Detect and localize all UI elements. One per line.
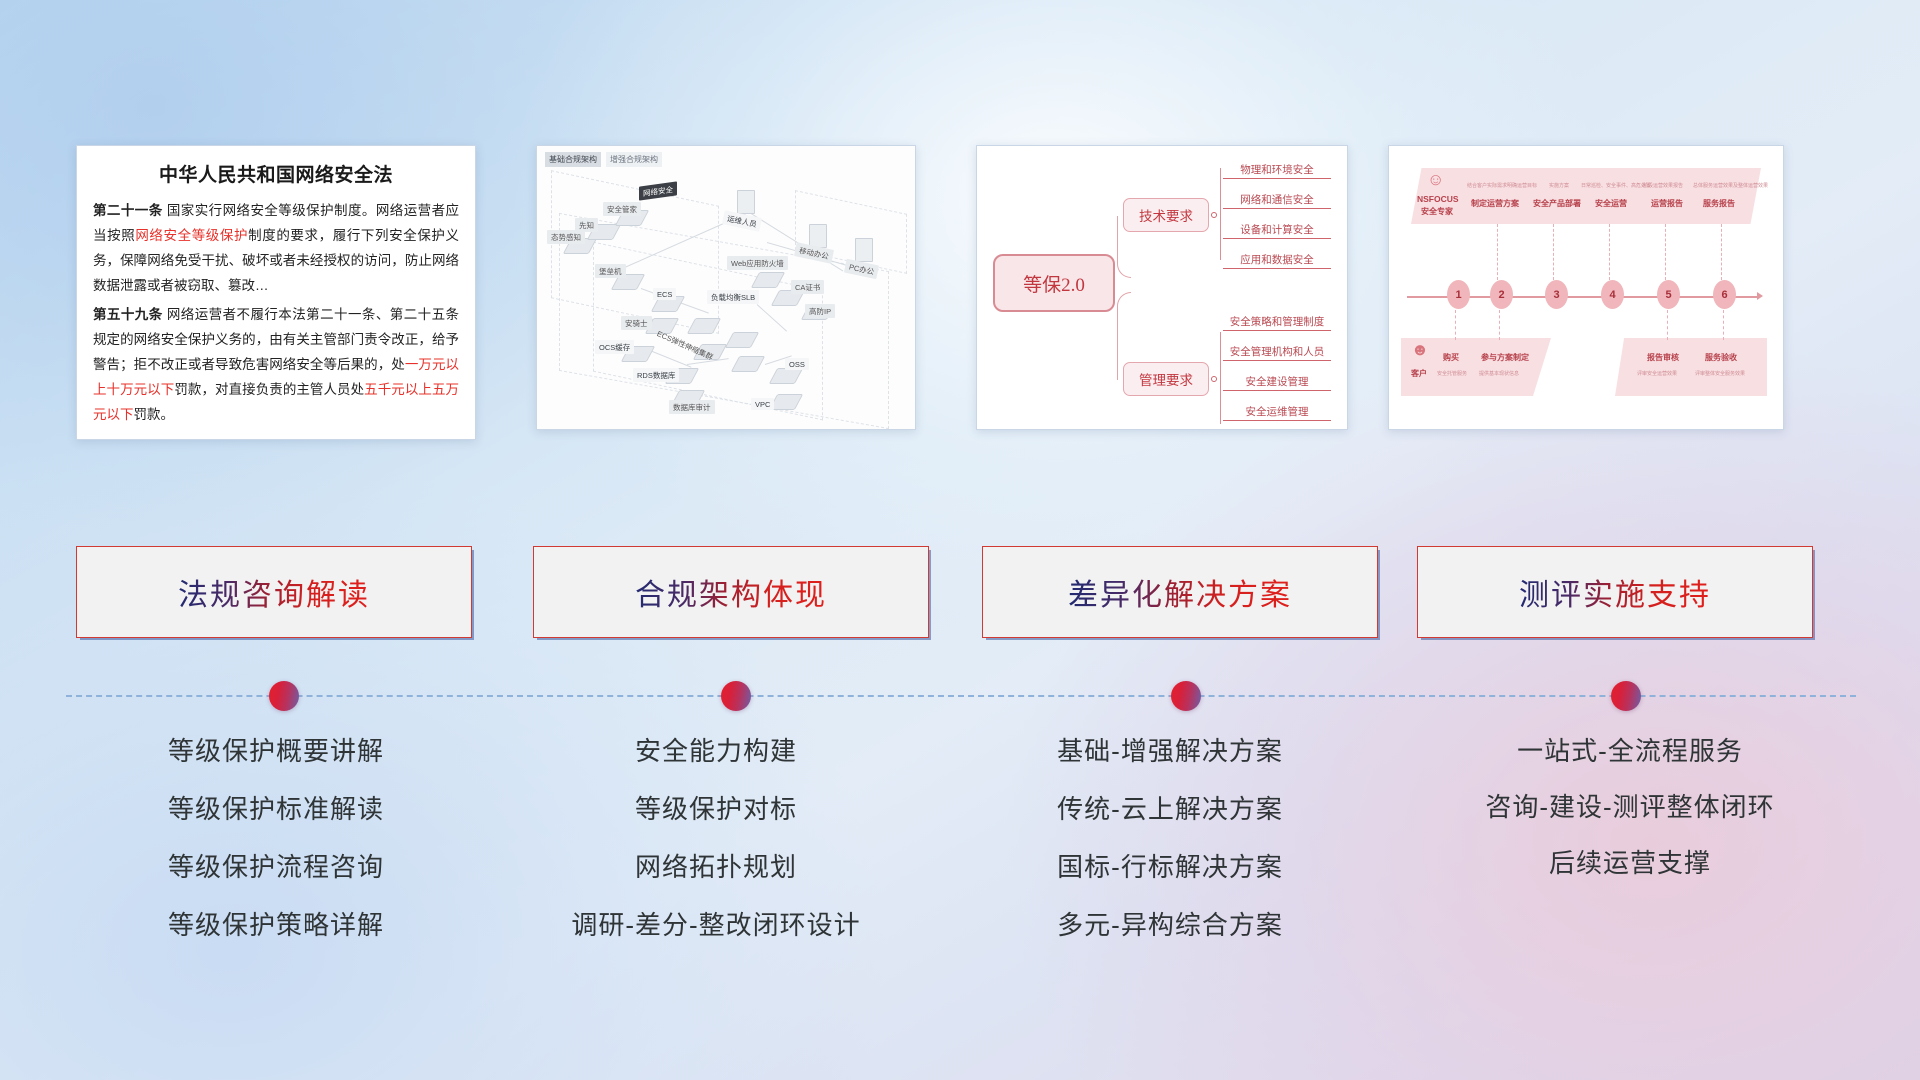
feature-column-2: 安全能力构建 等级保护对标 网络拓扑规划 调研-差分-整改闭环设计 [496,738,936,970]
nsfocus-step-5[interactable]: 5 [1657,280,1680,309]
nsfocus-bottom-sub-3: 评审安全运营效果 [1637,370,1677,377]
law-article-59: 第五十九条 网络运营者不履行本法第二十一条、第二十五条规定的网络安全保护义务的，… [93,303,459,428]
section-title-label-4: 测评实施支持 [1519,570,1711,614]
section-title-label-3: 差异化解决方案 [1068,570,1292,614]
arch-node-anti-ddos-ip: 高防IP [805,304,835,318]
arch-node-ocs-cache: OCS缓存 [595,340,634,354]
card-nsfocus-service-timeline[interactable]: ☺ NSFOCUS 安全专家 结合客户实际需求明确运营目标 制定运营方案 实施方… [1388,145,1784,430]
timeline-node-3[interactable] [1171,681,1201,711]
feature-columns: 等级保护概要讲解 等级保护标准解读 等级保护流程咨询 等级保护策略详解 安全能力… [0,738,1920,978]
nsfocus-top-sub-4: 阶段运营效果报告 [1643,182,1683,189]
mindmap-root-node: 等保2.0 [993,254,1115,312]
mindmap-leaf-tech-3: 设备和计算安全 [1223,222,1331,239]
mindmap-leaf-mgmt-1: 安全策略和管理制度 [1223,314,1331,331]
nsfocus-bottom-label-1: 购买 [1443,352,1459,363]
mindmap-leaf-tech-4: 应用和数据安全 [1223,252,1331,269]
arch-node-oss: OSS [785,358,809,370]
nsfocus-bottom-label-3: 报告审核 [1647,352,1679,363]
mindmap-leaf-tech-1: 物理和环境安全 [1223,162,1331,179]
mindmap-branch-technical: 技术要求 [1123,198,1209,232]
nsfocus-top-sub-1: 结合客户实际需求明确运营目标 [1467,182,1537,189]
feature-item: 基础-增强解决方案 [960,738,1380,764]
mindmap-leaf-tech-2: 网络和通信安全 [1223,192,1331,209]
mindmap-fan-mgmt [1220,332,1221,424]
mindmap-fan-tech [1220,168,1221,260]
timeline-node-2[interactable] [721,681,751,711]
nsfocus-dash-top-1 [1497,224,1498,280]
expert-person-icon: ☺ [1427,170,1444,190]
timeline-dashed-line [66,695,1856,697]
law-card-body: 中华人民共和国网络安全法 第二十一条 国家实行网络安全等级保护制度。网络运营者应… [77,146,475,440]
mindmap-body: 等保2.0 技术要求 管理要求 物理和环境安全 网络和通信安全 设备和计算安全 … [977,146,1347,429]
card-compliance-architecture[interactable]: 基础合规架构 增强合规架构 [536,145,916,430]
nsfocus-step-1[interactable]: 1 [1447,280,1470,309]
nsfocus-bottom-sub-4: 评审整体安全服务效果 [1695,370,1745,377]
feature-item: 一站式-全流程服务 [1420,738,1840,764]
timeline-track [66,695,1856,697]
nsfocus-top-sub-5: 总体服务运营效果及整体运营效果 [1693,182,1768,189]
mindmap-branch-management: 管理要求 [1123,362,1209,396]
nsfocus-dash-top-3 [1609,224,1610,280]
mindmap-leaf-mgmt-4: 安全运维管理 [1223,404,1331,421]
card-cybersecurity-law[interactable]: 中华人民共和国网络安全法 第二十一条 国家实行网络安全等级保护制度。网络运营者应… [76,145,476,440]
timeline-node-4[interactable] [1611,681,1641,711]
timeline-node-1[interactable] [269,681,299,711]
article-59-text-b: 罚款，对直接负责的主管人员处 [174,382,364,397]
nsfocus-step-6[interactable]: 6 [1713,280,1736,309]
nsfocus-dash-top-2 [1553,224,1554,280]
nsfocus-top-sub-3: 日常巡检、安全事件、高危处置 [1581,182,1651,189]
nsfocus-top-label-4: 运营报告 [1651,198,1683,209]
nsfocus-top-label-3: 安全运营 [1595,198,1627,209]
feature-item: 等级保护流程咨询 [76,854,476,880]
section-title-box-2[interactable]: 合规架构体现 [533,546,929,638]
mindmap-leaf-mgmt-3: 安全建设管理 [1223,374,1331,391]
feature-item: 后续运营支撑 [1420,850,1840,876]
nsfocus-dash-bottom-1 [1455,310,1456,340]
arch-node-slb: 负载均衡SLB [707,290,759,304]
arch-node-waf: Web应用防火墙 [727,256,788,270]
nsfocus-step-4[interactable]: 4 [1601,280,1624,309]
nsfocus-bottom-label-4: 服务验收 [1705,352,1737,363]
architecture-diagram: 基础合规架构 增强合规架构 [537,146,915,429]
nsfocus-expert-role: 安全专家 [1421,206,1453,217]
nsfocus-bottom-label-2: 参与方案制定 [1481,352,1529,363]
feature-item: 调研-差分-整改闭环设计 [496,912,936,938]
nsfocus-step-3[interactable]: 3 [1545,280,1568,309]
feature-item: 传统-云上解决方案 [960,796,1380,822]
nsfocus-top-band [1411,168,1761,224]
nsfocus-dash-bottom-3 [1667,310,1668,340]
nsfocus-bottom-right-band [1615,338,1767,396]
feature-item: 咨询-建设-测评整体闭环 [1420,794,1840,820]
nsfocus-top-label-2: 安全产品部署 [1533,198,1581,209]
feature-item: 等级保护对标 [496,796,936,822]
feature-column-1: 等级保护概要讲解 等级保护标准解读 等级保护流程咨询 等级保护策略详解 [76,738,476,970]
arch-tab-basic[interactable]: 基础合规架构 [545,152,601,167]
nsfocus-bottom-sub-1: 安全托管服务 [1437,370,1467,377]
nsfocus-step-2[interactable]: 2 [1490,280,1513,309]
mindmap-expand-dot-tech[interactable] [1211,212,1217,218]
nsfocus-top-label-1: 制定运营方案 [1471,198,1519,209]
customer-person-icon: ☻ [1411,340,1429,360]
nsfocus-dash-top-5 [1721,224,1722,280]
feature-item: 多元-异构综合方案 [960,912,1380,938]
nsfocus-dash-bottom-4 [1723,310,1724,340]
arch-node-situational-awareness: 态势感知 [547,230,585,244]
section-title-box-3[interactable]: 差异化解决方案 [982,546,1378,638]
law-article-21: 第二十一条 国家实行网络安全等级保护制度。网络运营者应当按照网络安全等级保护制度… [93,199,459,299]
nsfocus-dash-bottom-2 [1499,310,1500,340]
nsfocus-top-sub-2: 实施方案 [1549,182,1569,189]
nsfocus-expert-name: NSFOCUS [1417,194,1459,204]
nsfocus-top-label-5: 服务报告 [1703,198,1735,209]
arch-node-rds: RDS数据库 [633,368,679,382]
section-title-label-1: 法规咨询解读 [178,570,370,614]
nsfocus-axis-arrow-icon [1757,292,1763,300]
nsfocus-customer-role: 客户 [1411,368,1427,379]
architecture-tabs[interactable]: 基础合规架构 增强合规架构 [545,152,662,167]
section-title-box-4[interactable]: 测评实施支持 [1417,546,1813,638]
arch-node-anqishi: 安骑士 [621,316,652,330]
feature-item: 安全能力构建 [496,738,936,764]
mindmap-leaf-mgmt-2: 安全管理机构和人员 [1223,344,1331,361]
article-21-highlight: 网络安全等级保护 [135,228,248,243]
arch-node-ca-cert: CA证书 [791,280,824,294]
card-dengbao-mindmap[interactable]: 等保2.0 技术要求 管理要求 物理和环境安全 网络和通信安全 设备和计算安全 … [976,145,1348,430]
arch-node-bastion-host: 堡垒机 [595,264,626,278]
article-59-text-c: 罚款。 [134,407,175,422]
section-title-label-2: 合规架构体现 [635,570,827,614]
section-titles-row: 法规咨询解读 合规架构体现 差异化解决方案 测评实施支持 [0,546,1920,638]
arch-node-vpc: VPC [751,398,774,410]
law-title: 中华人民共和国网络安全法 [93,160,459,187]
nsfocus-dash-top-4 [1665,224,1666,280]
feature-item: 等级保护概要讲解 [76,738,476,764]
mindmap-expand-dot-mgmt[interactable] [1211,376,1217,382]
arch-node-db-audit: 数据库审计 [669,400,715,414]
preview-cards-row: 中华人民共和国网络安全法 第二十一条 国家实行网络安全等级保护制度。网络运营者应… [0,145,1920,445]
nsfocus-timeline-body: ☺ NSFOCUS 安全专家 结合客户实际需求明确运营目标 制定运营方案 实施方… [1389,146,1783,429]
arch-node-ops-staff: 运维人员 [722,210,762,232]
arch-server-1 [737,190,755,214]
feature-column-3: 基础-增强解决方案 传统-云上解决方案 国标-行标解决方案 多元-异构综合方案 [960,738,1380,970]
feature-item: 等级保护策略详解 [76,912,476,938]
feature-item: 国标-行标解决方案 [960,854,1380,880]
arch-server-3 [855,238,873,262]
feature-column-4: 一站式-全流程服务 咨询-建设-测评整体闭环 后续运营支撑 [1420,738,1840,906]
article-21-label: 第二十一条 [93,203,163,218]
nsfocus-bottom-sub-2: 提供基本现状信息 [1479,370,1519,377]
feature-item: 网络拓扑规划 [496,854,936,880]
arch-node-security-manager: 安全管家 [603,202,641,216]
arch-tab-enhanced[interactable]: 增强合规架构 [606,152,662,167]
section-title-box-1[interactable]: 法规咨询解读 [76,546,472,638]
arch-node-ecs: ECS [653,288,676,300]
feature-item: 等级保护标准解读 [76,796,476,822]
article-59-label: 第五十九条 [93,307,163,322]
